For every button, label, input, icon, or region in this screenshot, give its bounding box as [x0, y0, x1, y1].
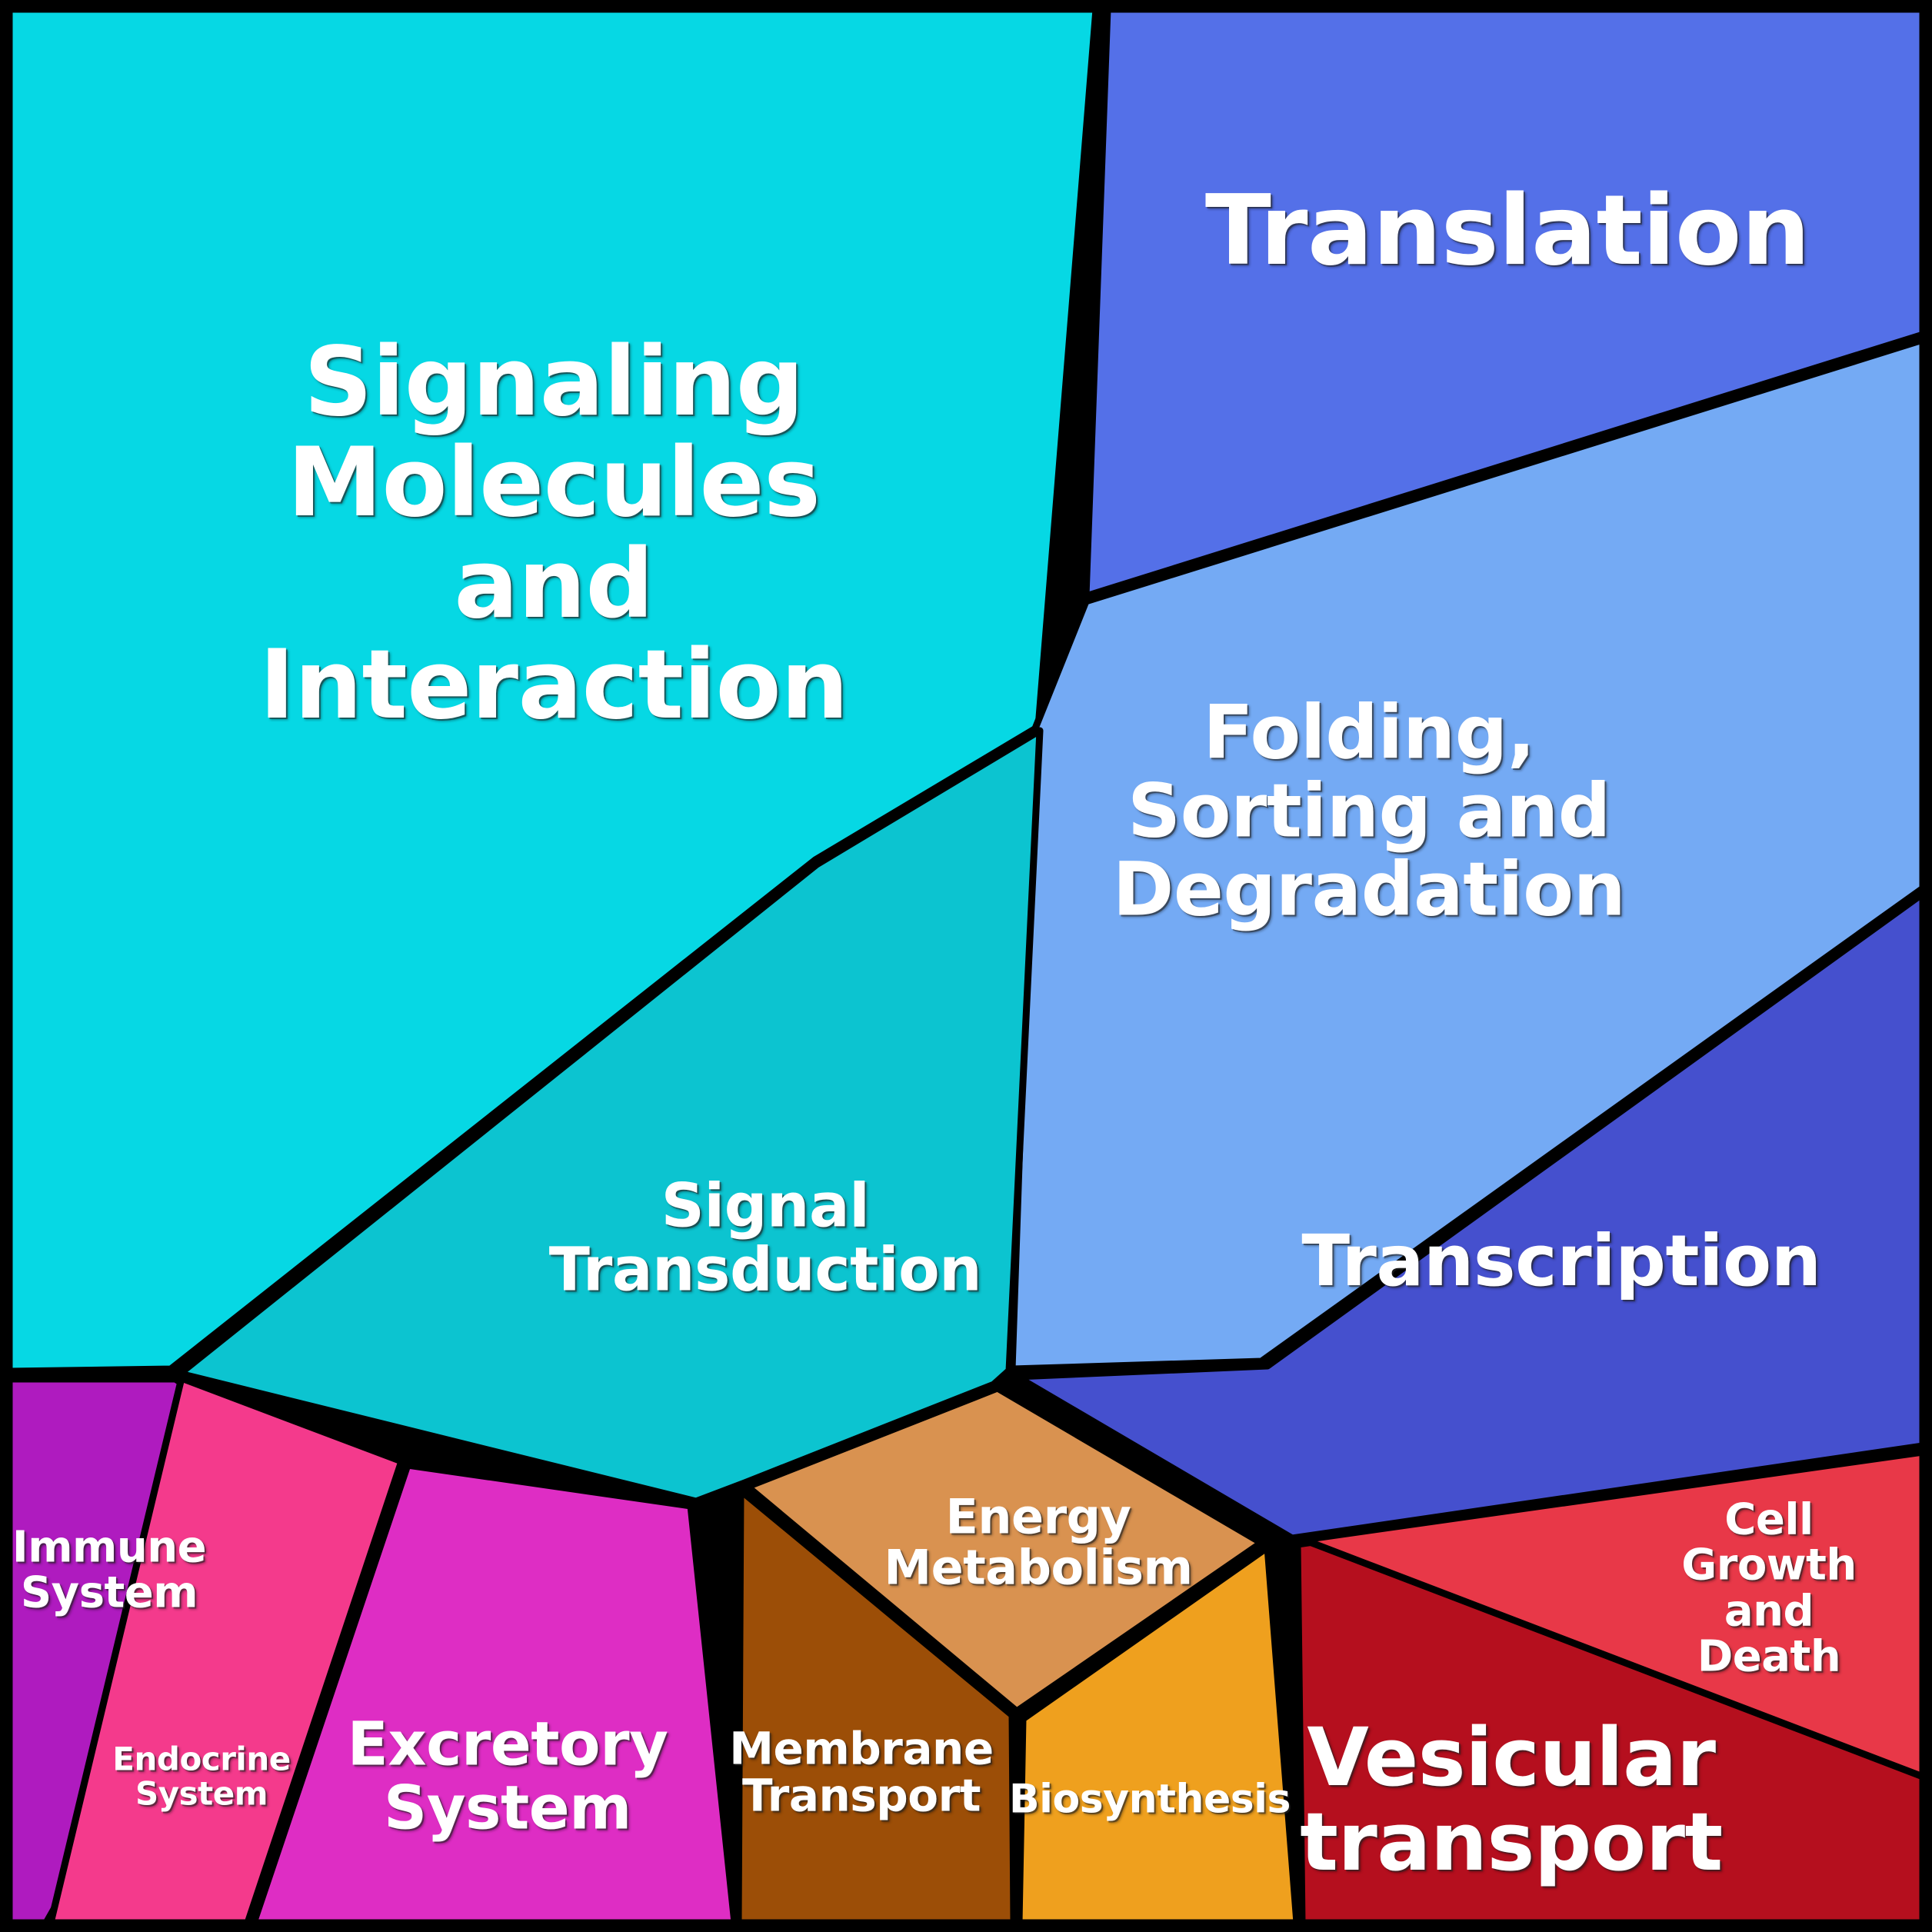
cell-shape-group: [9, 9, 1923, 1923]
voronoi-svg: [0, 0, 1932, 1932]
voronoi-treemap-figure: Signaling Molecules and InteractionTrans…: [0, 0, 1932, 1932]
